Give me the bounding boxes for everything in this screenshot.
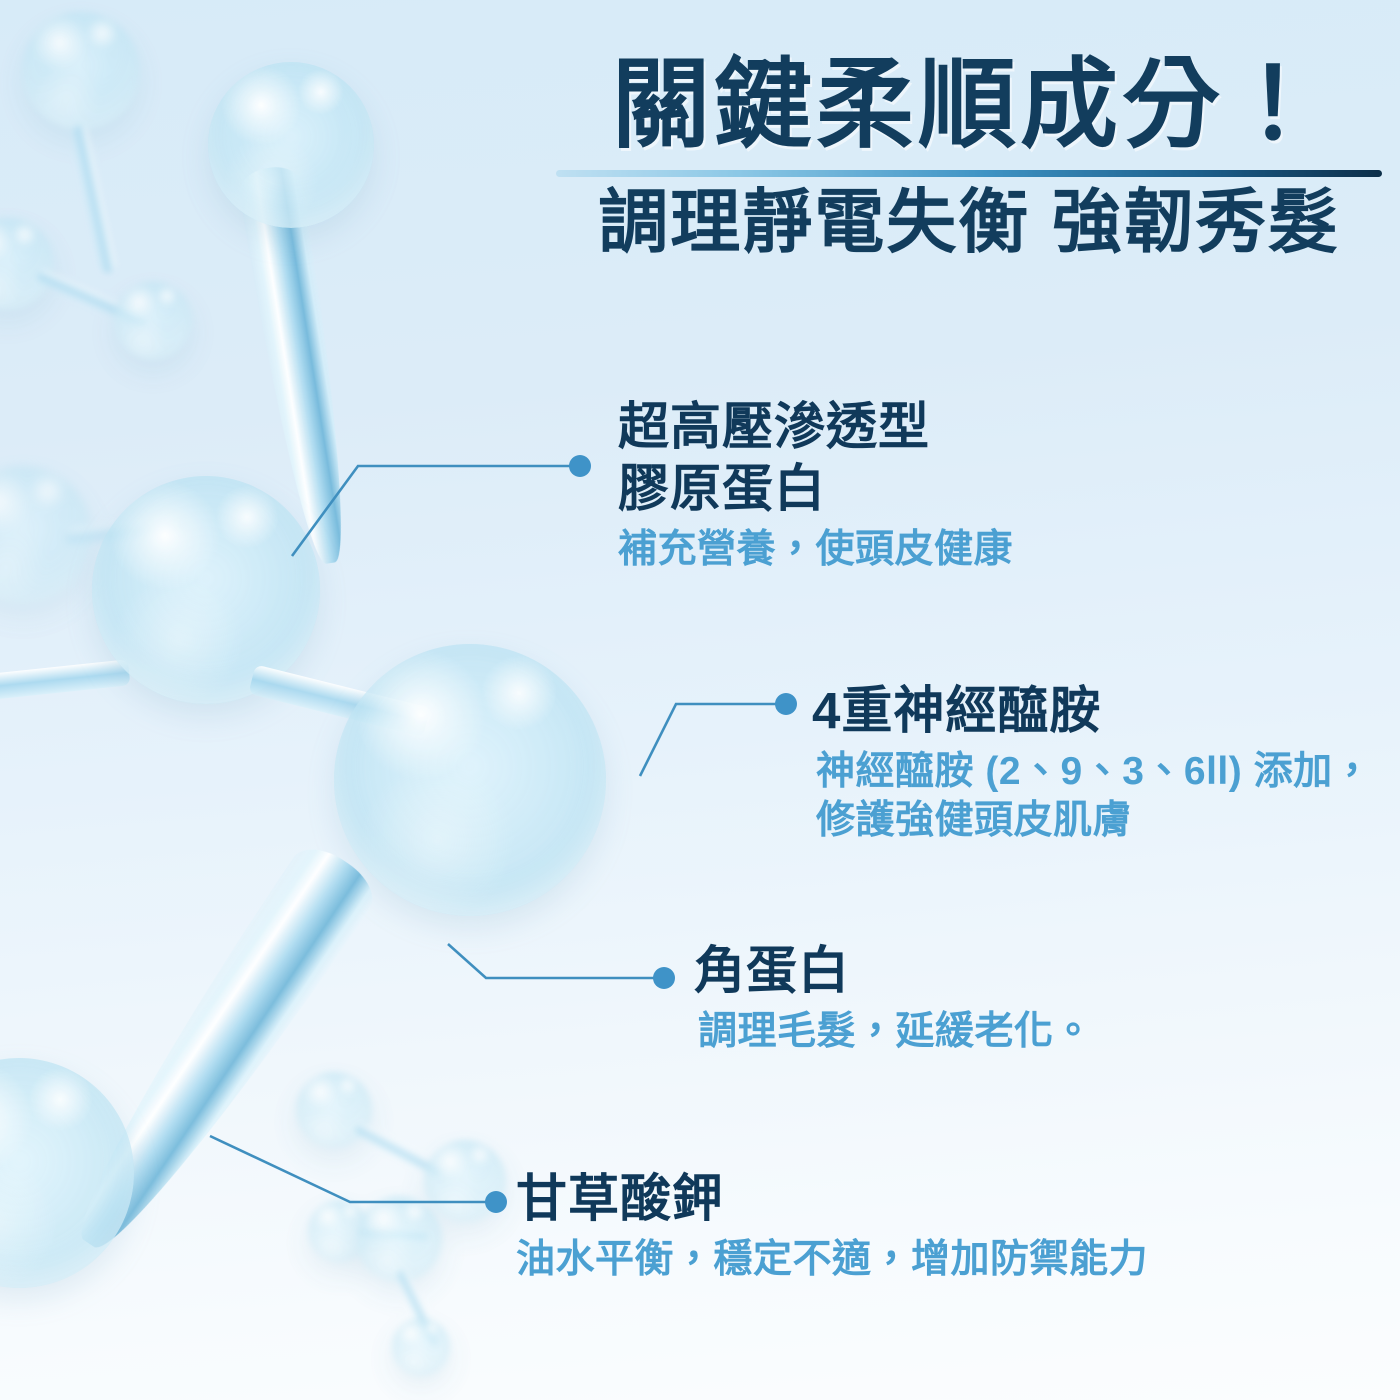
leader-dot-keratin <box>653 967 675 989</box>
page-title: 關鍵柔順成分！ <box>556 52 1382 158</box>
feature-keratin: 角蛋白 調理毛髮，延緩老化。 <box>694 940 1093 1057</box>
feature-title: 4重神經醯胺 <box>812 680 1372 742</box>
feature-title-line2: 膠原蛋白 <box>618 460 826 517</box>
title-divider <box>556 170 1382 177</box>
leader-line-collagen <box>292 466 574 556</box>
feature-title-line1: 超高壓滲透型 <box>618 398 930 455</box>
feature-title: 甘草酸鉀 <box>516 1168 1148 1230</box>
header-block: 關鍵柔順成分！ 調理靜電失衡 強韌秀髮 <box>556 52 1382 261</box>
leader-dot-collagen <box>569 455 591 477</box>
page-subtitle: 調理靜電失衡 強韌秀髮 <box>556 183 1382 261</box>
feature-ceramide: 4重神經醯胺 神經醯胺 (2、9、3、6ll) 添加， 修護強健頭皮肌膚 <box>812 680 1372 846</box>
feature-title: 角蛋白 <box>694 940 1093 1002</box>
feature-title: 超高壓滲透型 膠原蛋白 <box>618 396 1013 520</box>
feature-collagen: 超高壓滲透型 膠原蛋白 補充營養，使頭皮健康 <box>618 396 1013 575</box>
feature-desc-line1: 調理毛髮，延緩老化。 <box>698 1008 1093 1057</box>
leader-line-licorice <box>210 1136 490 1202</box>
feature-licorice: 甘草酸鉀 油水平衡，穩定不適，增加防禦能力 <box>516 1168 1148 1285</box>
leader-line-ceramide <box>640 704 780 776</box>
leader-line-keratin <box>448 944 658 978</box>
leader-dot-licorice <box>485 1191 507 1213</box>
feature-desc-line1: 油水平衡，穩定不適，增加防禦能力 <box>516 1236 1148 1285</box>
feature-desc-line1: 補充營養，使頭皮健康 <box>618 526 1013 575</box>
ingredient-infographic: 關鍵柔順成分！ 調理靜電失衡 強韌秀髮 超高壓滲透型 膠原蛋白 補充營養，使頭皮… <box>0 0 1400 1400</box>
leader-dot-ceramide <box>775 693 797 715</box>
feature-desc-line1: 神經醯胺 (2、9、3、6ll) 添加， <box>816 748 1372 797</box>
feature-desc-line2: 修護強健頭皮肌膚 <box>816 797 1372 846</box>
